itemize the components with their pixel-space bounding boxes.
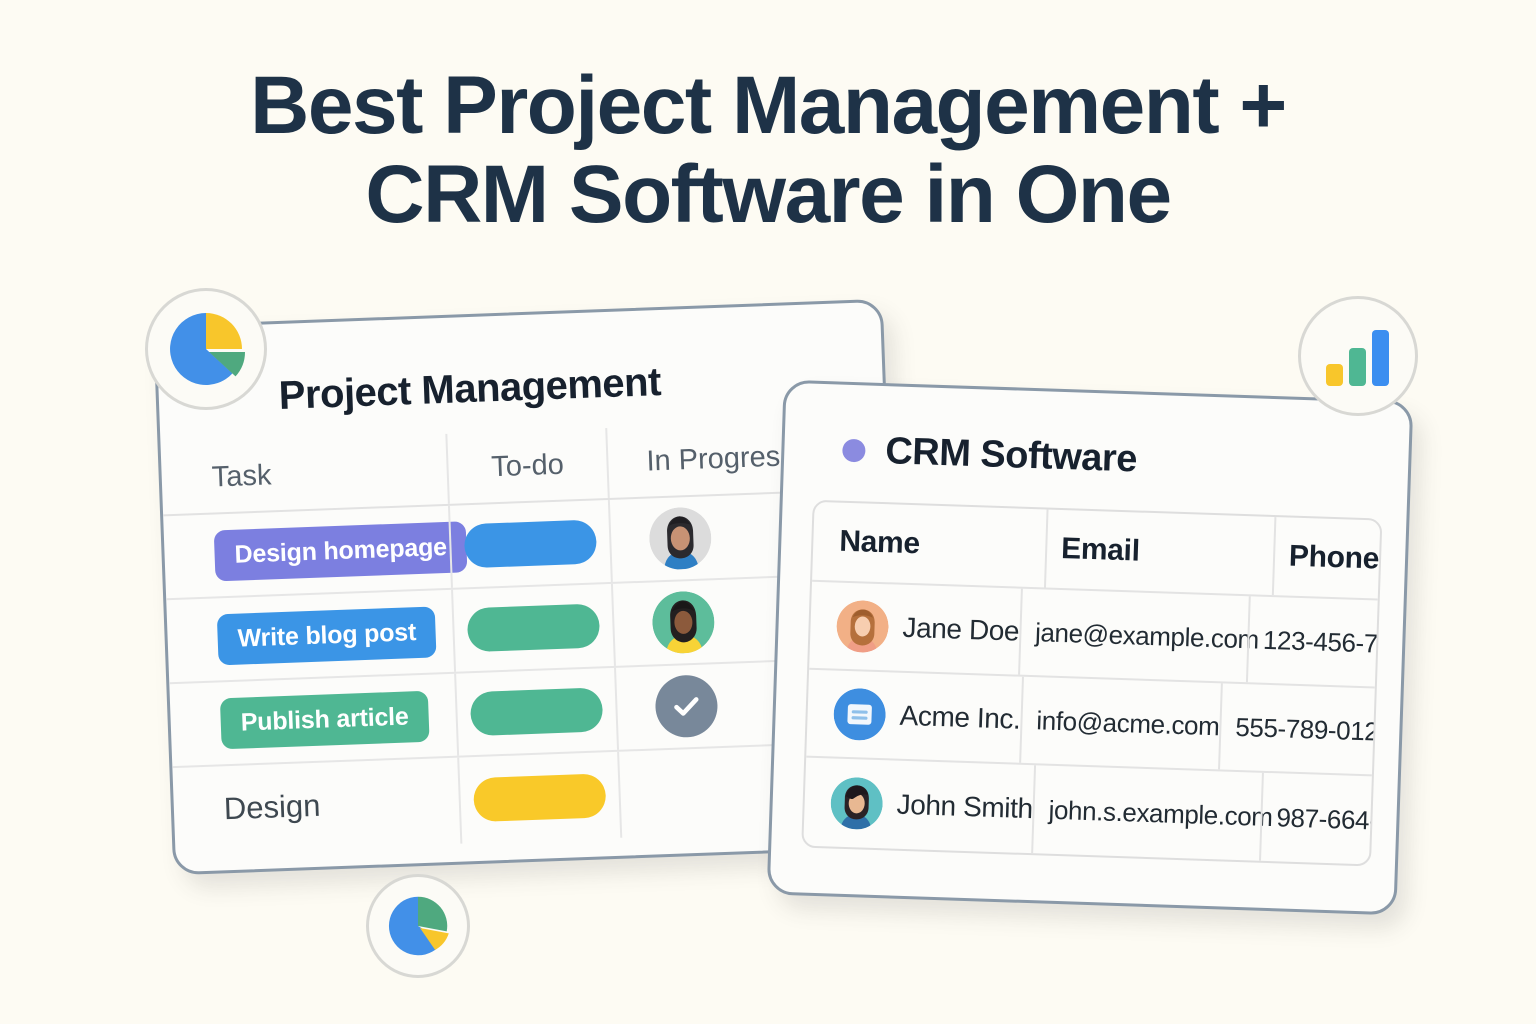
page-title-line-1: Best Project Management +	[0, 62, 1536, 151]
contact-name: Jane Doe	[902, 612, 1020, 648]
todo-progress-bar[interactable]	[467, 603, 601, 652]
table-row[interactable]: John Smith john.s.example.com 987-664-32…	[803, 758, 1372, 865]
name-cell[interactable]: Acme Inc.	[806, 670, 1022, 763]
task-label-design[interactable]: Design	[223, 788, 321, 828]
todo-cell[interactable]	[451, 584, 614, 672]
todo-progress-bar[interactable]	[464, 519, 598, 568]
contact-email: jane@example.com	[1035, 617, 1260, 655]
bar-chart-icon	[1322, 324, 1394, 388]
contact-email: info@acme.com	[1036, 705, 1220, 742]
todo-cell[interactable]	[448, 500, 611, 588]
todo-cell[interactable]	[454, 668, 617, 756]
page-title: Best Project Management + CRM Software i…	[0, 62, 1536, 239]
bar-chart-badge-top-right	[1298, 296, 1418, 416]
avatar-john-smith[interactable]	[830, 777, 884, 831]
email-cell[interactable]: john.s.example.com	[1031, 765, 1262, 861]
column-header-todo: To-do	[491, 448, 565, 484]
crm-header: CRM Software	[842, 429, 1138, 482]
contact-name: John Smith	[896, 789, 1033, 825]
task-cell[interactable]: Design	[172, 758, 460, 854]
check-circle-icon[interactable]	[654, 674, 718, 738]
todo-progress-bar[interactable]	[470, 687, 604, 736]
contact-email: john.s.example.com	[1048, 794, 1273, 832]
pie-chart-badge-bottom-left	[366, 874, 470, 978]
phone-cell[interactable]: 555-789-0123	[1218, 683, 1382, 775]
phone-cell[interactable]: 123-456-7890	[1246, 596, 1383, 688]
pie-chart-icon	[163, 306, 249, 392]
contact-name: Acme Inc.	[899, 700, 1021, 736]
task-pill-publish-article[interactable]: Publish article	[220, 690, 430, 749]
crm-software-card: CRM Software Name Email Phone Jane Doe	[767, 380, 1414, 916]
task-pill-design-homepage[interactable]: Design homepage	[214, 521, 468, 581]
name-cell[interactable]: Jane Doe	[809, 582, 1020, 675]
todo-progress-bar[interactable]	[473, 773, 607, 822]
task-cell[interactable]: Publish article	[169, 674, 457, 766]
email-cell[interactable]: info@acme.com	[1019, 677, 1221, 770]
name-cell[interactable]: John Smith	[803, 758, 1034, 854]
contact-phone: 555-789-0123	[1235, 711, 1383, 747]
project-management-title: Project Management	[278, 360, 662, 419]
avatar-jane-doe[interactable]	[836, 600, 890, 654]
task-cell[interactable]: Write blog post	[166, 590, 454, 682]
column-header-phone: Phone	[1288, 540, 1379, 577]
column-header-name: Name	[839, 525, 921, 562]
crm-contacts-table: Name Email Phone Jane Doe jane@exam	[801, 500, 1382, 867]
task-pill-write-blog-post[interactable]: Write blog post	[217, 606, 437, 665]
contact-phone: 123-456-7890	[1263, 624, 1383, 660]
pie-chart-badge-top-left	[145, 288, 267, 410]
column-header-in-progress: In Progress	[646, 440, 795, 478]
task-cell[interactable]: Design homepage	[163, 506, 451, 598]
column-header-email: Email	[1061, 532, 1141, 569]
avatar-woman-blue-shirt[interactable]	[648, 506, 712, 570]
company-acme-icon[interactable]	[833, 688, 887, 742]
crm-title: CRM Software	[885, 430, 1138, 481]
phone-cell[interactable]: 987-664-3210	[1259, 773, 1382, 867]
column-header-task: Task	[211, 459, 272, 494]
contact-phone: 987-664-3210	[1276, 802, 1382, 838]
avatar-woman-yellow-shirt[interactable]	[651, 590, 715, 654]
email-cell[interactable]: jane@example.com	[1018, 589, 1249, 683]
todo-cell[interactable]	[457, 752, 620, 844]
status-dot-icon	[842, 439, 866, 463]
pie-chart-icon	[383, 891, 453, 961]
page-title-line-2: CRM Software in One	[0, 151, 1536, 240]
